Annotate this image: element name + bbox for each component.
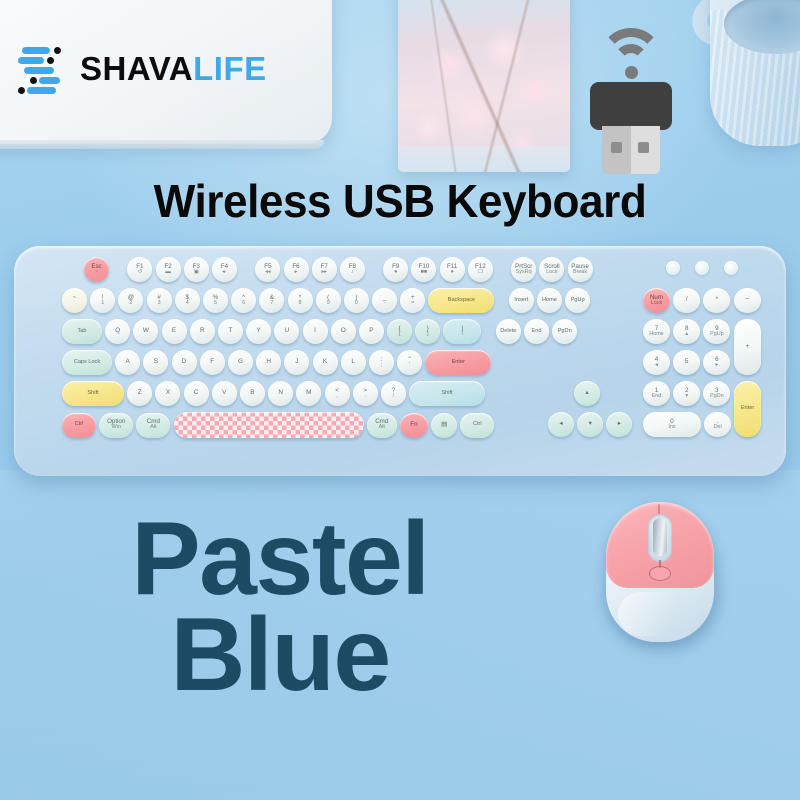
key-label: PgUp bbox=[571, 298, 585, 304]
key-label: Enter bbox=[452, 360, 465, 366]
led-indicator bbox=[724, 261, 738, 275]
key-label: ▤ bbox=[441, 422, 447, 429]
key-label: Home bbox=[542, 298, 557, 304]
scroll-wheel bbox=[653, 518, 667, 556]
key-label-secondary: ■■ bbox=[421, 270, 428, 276]
key-s[interactable]: S bbox=[143, 350, 168, 375]
key-f2[interactable]: F2▬ bbox=[156, 257, 181, 282]
key-label: Y bbox=[256, 328, 260, 335]
key-f5[interactable]: F5◂◂ bbox=[255, 257, 280, 282]
key-label: C bbox=[194, 390, 199, 397]
key-5[interactable]: %5 bbox=[203, 288, 228, 313]
key-label-secondary: \ bbox=[462, 332, 464, 338]
key-key[interactable]: ▾ bbox=[577, 412, 603, 437]
key-label: V bbox=[222, 390, 226, 397]
key-label: F bbox=[210, 359, 214, 366]
key-v[interactable]: V bbox=[212, 381, 237, 406]
key-backspace[interactable]: Backspace bbox=[428, 288, 494, 313]
key-prtscr-sysrq[interactable]: PrtScrSysRq bbox=[511, 257, 536, 282]
key-o[interactable]: O bbox=[331, 319, 356, 344]
key-label-secondary: Alt bbox=[379, 425, 385, 431]
key-pgup[interactable]: PgUp bbox=[565, 288, 590, 313]
shavalife-mark-icon bbox=[18, 43, 66, 95]
key-label-secondary: Lock bbox=[546, 270, 557, 276]
key-key[interactable]: * bbox=[703, 288, 730, 313]
key-key[interactable]: <, bbox=[325, 381, 350, 406]
key-label: Enter bbox=[741, 406, 754, 412]
key-label-secondary: 5 bbox=[214, 301, 217, 307]
key-label-secondary: PgUp bbox=[710, 332, 724, 338]
key-a[interactable]: A bbox=[115, 350, 140, 375]
key-label-secondary: - bbox=[384, 301, 386, 307]
key-option-win[interactable]: OptionWin bbox=[99, 413, 133, 438]
key-label-secondary: Break bbox=[573, 270, 587, 276]
key-c[interactable]: C bbox=[184, 381, 209, 406]
ceramic-mug bbox=[694, 0, 800, 146]
logo-wordmark: SHAVALIFE bbox=[80, 50, 267, 88]
key-1-end[interactable]: 1End bbox=[643, 381, 670, 406]
card-bottom-edge bbox=[398, 146, 570, 172]
key-label: H bbox=[266, 359, 271, 366]
key-key[interactable]: − bbox=[734, 288, 761, 313]
key-label: X bbox=[166, 390, 170, 397]
key-r[interactable]: R bbox=[190, 319, 215, 344]
key-label: + bbox=[746, 344, 750, 351]
key-e[interactable]: E bbox=[162, 319, 187, 344]
key-4[interactable]: $4 bbox=[175, 288, 200, 313]
numpad-row-5: 0Ins.Del bbox=[643, 412, 731, 437]
color-callout-line2: Blue bbox=[0, 608, 560, 704]
key-g[interactable]: G bbox=[228, 350, 253, 375]
key-label-secondary: 7 bbox=[270, 301, 273, 307]
keyboard-row-function: Esc~F1↺F2▬F3▣F4◂·F5◂◂F6▸F7▸▸F8♪F9●F10■■F… bbox=[84, 257, 593, 282]
key-2[interactable]: @2 bbox=[118, 288, 143, 313]
key-q[interactable]: Q bbox=[105, 319, 130, 344]
key-label-secondary: Home bbox=[649, 332, 663, 338]
key-ctrl[interactable]: Ctrl bbox=[460, 413, 494, 438]
key-label-secondary: ▬ bbox=[165, 270, 170, 276]
key-3[interactable]: #3 bbox=[147, 288, 172, 313]
key-label: ▸ bbox=[618, 421, 621, 428]
key-label: G bbox=[238, 359, 243, 366]
key-label: Insert bbox=[514, 298, 528, 304]
key-8[interactable]: *8 bbox=[288, 288, 313, 313]
key-end[interactable]: End bbox=[524, 319, 549, 344]
key-shift[interactable]: Shift bbox=[409, 381, 485, 406]
key-key[interactable]: += bbox=[400, 288, 425, 313]
key-label: PgDn bbox=[558, 329, 572, 335]
numpad-row-4: 1End2▾3PgDn bbox=[643, 381, 730, 406]
key-key[interactable]: ▸ bbox=[606, 412, 632, 437]
key-4[interactable]: 4◂ bbox=[643, 350, 670, 375]
key-home[interactable]: Home bbox=[537, 288, 562, 313]
key-numpad-plus[interactable]: + bbox=[734, 319, 761, 375]
key-label: O bbox=[341, 328, 346, 335]
keyboard-row-home: Caps LockASDFGHJKL:;"'Enter bbox=[62, 350, 491, 375]
key-label-secondary: ` bbox=[74, 301, 76, 307]
key-enter[interactable]: Enter bbox=[425, 350, 491, 375]
key-f9[interactable]: F9● bbox=[383, 257, 408, 282]
key-n[interactable]: N bbox=[268, 381, 293, 406]
key-j[interactable]: J bbox=[284, 350, 309, 375]
key-label-secondary: ; bbox=[381, 363, 383, 369]
numpad-row-1: NumLock/*− bbox=[643, 288, 761, 313]
key-f6[interactable]: F6▸ bbox=[284, 257, 309, 282]
key-6[interactable]: 6▸ bbox=[703, 350, 730, 375]
key-label-secondary: 6 bbox=[242, 301, 245, 307]
key-6[interactable]: ^6 bbox=[231, 288, 256, 313]
key-label: Ctrl bbox=[75, 422, 84, 428]
key-label: Ctrl bbox=[473, 422, 482, 428]
key-i[interactable]: I bbox=[303, 319, 328, 344]
key-f11[interactable]: F11● bbox=[440, 257, 465, 282]
key-fn[interactable]: Fn bbox=[400, 413, 428, 438]
key-f4[interactable]: F4◂· bbox=[212, 257, 237, 282]
key-label-secondary: 1 bbox=[101, 301, 104, 307]
key-y[interactable]: Y bbox=[246, 319, 271, 344]
key-9-pgup[interactable]: 9PgUp bbox=[703, 319, 730, 344]
key-key[interactable]: ◂ bbox=[548, 412, 574, 437]
brand-logo: SHAVALIFE bbox=[0, 0, 322, 138]
keyboard-row-shift: ShiftZXCVBNM<,>.?/Shift bbox=[62, 381, 485, 406]
key-f10[interactable]: F10■■ bbox=[411, 257, 436, 282]
key-label-secondary: 4 bbox=[186, 301, 189, 307]
key-key[interactable]: ▴ bbox=[574, 381, 600, 406]
key-z[interactable]: Z bbox=[127, 381, 152, 406]
key-label: Caps Lock bbox=[74, 360, 100, 366]
key-key[interactable]: {[ bbox=[387, 319, 412, 344]
key-label-secondary: . bbox=[364, 394, 366, 400]
key-label-secondary: [ bbox=[399, 332, 401, 338]
key-label: Fn bbox=[410, 422, 417, 429]
key-label-secondary: ~ bbox=[95, 270, 98, 276]
keyboard-arrow-up: ▴ bbox=[574, 381, 600, 406]
key-label: A bbox=[126, 359, 130, 366]
wireless-keyboard: Esc~F1↺F2▬F3▣F4◂·F5◂◂F6▸F7▸▸F8♪F9●F10■■F… bbox=[14, 246, 786, 476]
key-label: Z bbox=[138, 390, 142, 397]
key-5[interactable]: 5 bbox=[673, 350, 700, 375]
key-label-secondary: ❐ bbox=[478, 270, 483, 276]
key-label: K bbox=[323, 359, 327, 366]
key-label: − bbox=[745, 297, 749, 304]
key-pause-break[interactable]: PauseBreak bbox=[568, 257, 593, 282]
keyboard-arrow-cluster: ◂▾▸ bbox=[548, 412, 632, 437]
key-f8[interactable]: F8♪ bbox=[340, 257, 365, 282]
key-label: B bbox=[250, 390, 254, 397]
key-key[interactable]: |\ bbox=[443, 319, 481, 344]
key-label: Shift bbox=[441, 391, 452, 397]
key-label-secondary: = bbox=[411, 301, 414, 307]
key-cmd-alt[interactable]: CmdAlt bbox=[136, 413, 170, 438]
key-0[interactable]: )0 bbox=[344, 288, 369, 313]
key-label: U bbox=[285, 328, 290, 335]
key-label: E bbox=[172, 328, 176, 335]
key-key[interactable]: "' bbox=[397, 350, 422, 375]
keyboard-key-area: Esc~F1↺F2▬F3▣F4◂·F5◂◂F6▸F7▸▸F8♪F9●F10■■F… bbox=[26, 255, 774, 467]
key-p[interactable]: P bbox=[359, 319, 384, 344]
keyboard-row-qwerty: TabQWERTYUIOP{[}]|\DeleteEndPgDn bbox=[62, 319, 577, 344]
key-f3[interactable]: F3▣ bbox=[184, 257, 209, 282]
key-label: S bbox=[154, 359, 158, 366]
key-label: End bbox=[532, 329, 542, 335]
key-f1[interactable]: F1↺ bbox=[127, 257, 152, 282]
wifi-signal-icon bbox=[598, 26, 664, 78]
key-label-secondary: Lock bbox=[651, 301, 662, 307]
dpi-button bbox=[649, 566, 671, 581]
key-label-secondary: ◂◂ bbox=[265, 270, 270, 276]
key-label-secondary: , bbox=[336, 394, 338, 400]
key-label-secondary: Del bbox=[714, 425, 722, 431]
key-2[interactable]: 2▾ bbox=[673, 381, 700, 406]
wireless-mouse bbox=[598, 496, 722, 644]
key-label: N bbox=[278, 390, 283, 397]
key-numpad-enter[interactable]: Enter bbox=[734, 381, 761, 437]
usb-connector-tip bbox=[602, 126, 660, 174]
key-label-secondary: ▸▸ bbox=[321, 270, 326, 276]
key-k[interactable]: K bbox=[313, 350, 338, 375]
key-label-secondary: ● bbox=[450, 270, 453, 276]
key-7-home[interactable]: 7Home bbox=[643, 319, 670, 344]
key-key[interactable]: >. bbox=[353, 381, 378, 406]
key-label-secondary: ' bbox=[409, 363, 410, 369]
key-label-secondary: PgDn bbox=[710, 394, 724, 400]
key-label: Tab bbox=[77, 329, 86, 335]
key-tab[interactable]: Tab bbox=[62, 319, 102, 344]
key-label-secondary: ↺ bbox=[138, 270, 143, 276]
key-m[interactable]: M bbox=[296, 381, 321, 406]
key-label: D bbox=[182, 359, 187, 366]
key-label-secondary: ▸ bbox=[295, 270, 298, 276]
key-label: I bbox=[314, 328, 316, 335]
key-f7[interactable]: F7▸▸ bbox=[312, 257, 337, 282]
page-title: Wireless USB Keyboard bbox=[16, 174, 784, 228]
numpad-row-3: 4◂56▸ bbox=[643, 350, 730, 375]
key-d[interactable]: D bbox=[172, 350, 197, 375]
key-caps-lock[interactable]: Caps Lock bbox=[62, 350, 112, 375]
key-w[interactable]: W bbox=[133, 319, 158, 344]
key-label-secondary: 9 bbox=[327, 301, 330, 307]
key-num-lock[interactable]: NumLock bbox=[643, 288, 670, 313]
key-delete[interactable]: Delete bbox=[496, 319, 521, 344]
key-label-secondary: End bbox=[652, 394, 662, 400]
key-label: Delete bbox=[500, 329, 516, 335]
key-label: W bbox=[143, 328, 149, 335]
key-label: ▾ bbox=[589, 421, 592, 428]
key-8[interactable]: 8▴ bbox=[673, 319, 700, 344]
key-9[interactable]: (9 bbox=[316, 288, 341, 313]
key-ctrl[interactable]: Ctrl bbox=[62, 413, 96, 438]
key-label: Shift bbox=[87, 391, 98, 397]
key-label-secondary: ▸ bbox=[716, 363, 719, 369]
mouse-highlight bbox=[618, 592, 690, 636]
keyboard-indicator-leds bbox=[666, 261, 738, 275]
key-key[interactable]: ▤ bbox=[431, 413, 457, 438]
key-label: / bbox=[686, 297, 688, 304]
key-f[interactable]: F bbox=[200, 350, 225, 375]
led-indicator bbox=[666, 261, 680, 275]
key-label-secondary: ♪ bbox=[351, 270, 354, 276]
key-f12[interactable]: F12❐ bbox=[468, 257, 493, 282]
key-label: 5 bbox=[685, 359, 689, 366]
key-1[interactable]: !1 bbox=[90, 288, 115, 313]
key-l[interactable]: L bbox=[341, 350, 366, 375]
key-label: Q bbox=[115, 328, 120, 335]
key-label-secondary: SysRq bbox=[516, 270, 532, 276]
key-b[interactable]: B bbox=[240, 381, 265, 406]
key-insert[interactable]: Insert bbox=[509, 288, 534, 313]
key-h[interactable]: H bbox=[256, 350, 281, 375]
key-label: ▴ bbox=[585, 390, 588, 397]
key-label-secondary: ◂· bbox=[222, 270, 227, 276]
key-label-secondary: / bbox=[393, 394, 395, 400]
key-label: ◂ bbox=[559, 421, 562, 428]
key-label-secondary: ◂ bbox=[655, 363, 658, 369]
color-callout: Pastel Blue bbox=[0, 512, 560, 703]
key-key[interactable]: / bbox=[673, 288, 700, 313]
key-label-secondary: Win bbox=[112, 425, 121, 431]
key-t[interactable]: T bbox=[218, 319, 243, 344]
key-label: P bbox=[369, 328, 373, 335]
key-key[interactable]: _- bbox=[372, 288, 397, 313]
key-spacebar[interactable] bbox=[174, 412, 364, 438]
key-label: L bbox=[351, 359, 355, 366]
key-key[interactable]: :; bbox=[369, 350, 394, 375]
key-shift[interactable]: Shift bbox=[62, 381, 124, 406]
key-scroll-lock[interactable]: ScrollLock bbox=[539, 257, 564, 282]
key-key[interactable]: ~` bbox=[62, 288, 87, 313]
logo-text-shava: SHAVA bbox=[80, 50, 193, 87]
key-label-secondary: ▴ bbox=[685, 332, 688, 338]
key-label-secondary: ▣ bbox=[194, 270, 199, 276]
key-label-secondary: 0 bbox=[355, 301, 358, 307]
key-label: M bbox=[306, 390, 311, 397]
key-label: Backspace bbox=[448, 298, 475, 304]
numpad-row-2: 7Home8▴9PgUp bbox=[643, 319, 730, 344]
usb-dongle-body bbox=[590, 82, 672, 130]
key-x[interactable]: X bbox=[155, 381, 180, 406]
key-label-secondary: ● bbox=[394, 270, 397, 276]
usb-receiver-graphic bbox=[576, 26, 686, 174]
key-label: R bbox=[200, 328, 205, 335]
key-esc[interactable]: Esc~ bbox=[84, 257, 109, 282]
logo-text-life: LIFE bbox=[193, 50, 267, 87]
key-label-secondary: Ins bbox=[668, 425, 675, 431]
led-indicator bbox=[695, 261, 709, 275]
key-label: * bbox=[716, 297, 719, 304]
key-label-secondary: Alt bbox=[150, 425, 156, 431]
cherry-blossom-card bbox=[398, 0, 570, 172]
key-u[interactable]: U bbox=[274, 319, 299, 344]
key-label: J bbox=[295, 359, 298, 366]
key-0-ins[interactable]: 0Ins bbox=[643, 412, 701, 437]
keyboard-row-numbers: ~`!1@2#3$4%5^6&7*8(9)0_-+=BackspaceInser… bbox=[62, 288, 590, 313]
key-key[interactable]: ?/ bbox=[381, 381, 406, 406]
key-3-pgdn[interactable]: 3PgDn bbox=[703, 381, 730, 406]
key-label-secondary: 8 bbox=[299, 301, 302, 307]
key-label-secondary: ▾ bbox=[685, 394, 688, 400]
key-cmd-alt[interactable]: CmdAlt bbox=[367, 413, 397, 438]
keyboard-row-bottom: CtrlOptionWinCmdAltCmdAltFn▤Ctrl bbox=[62, 412, 494, 438]
key-label-secondary: ] bbox=[427, 332, 429, 338]
key-label-secondary: 2 bbox=[129, 301, 132, 307]
key-label: T bbox=[228, 328, 232, 335]
color-callout-line1: Pastel bbox=[0, 512, 560, 608]
key-del[interactable]: .Del bbox=[704, 412, 731, 437]
key-label-secondary: 3 bbox=[158, 301, 161, 307]
key-key[interactable]: }] bbox=[415, 319, 440, 344]
key-7[interactable]: &7 bbox=[259, 288, 284, 313]
key-pgdn[interactable]: PgDn bbox=[552, 319, 577, 344]
